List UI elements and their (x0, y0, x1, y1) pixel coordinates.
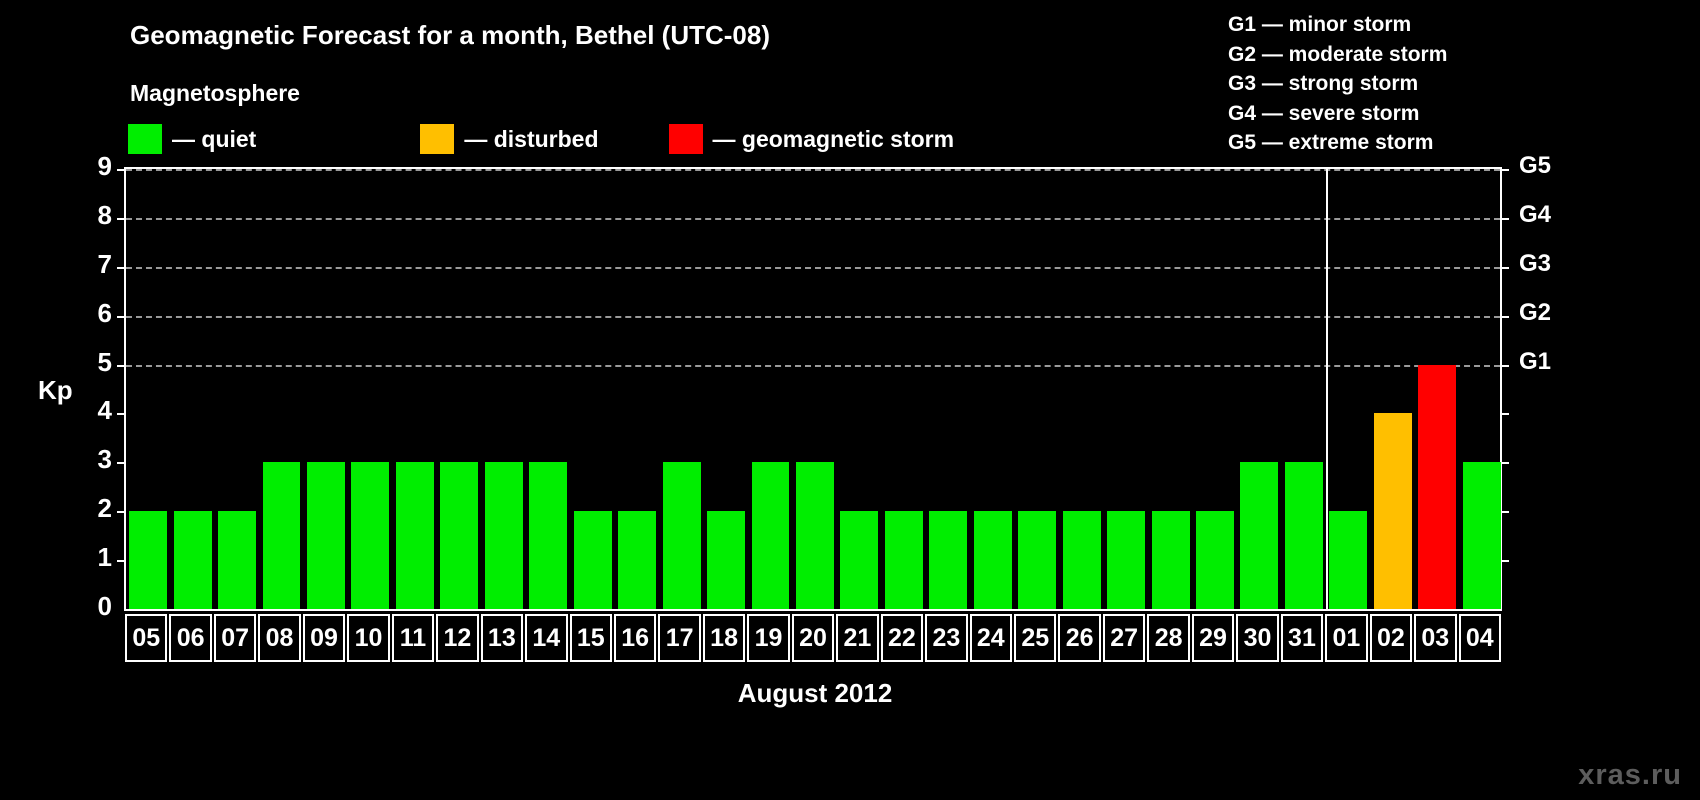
series-label: Magnetosphere (130, 80, 300, 107)
bar-day-09 (307, 462, 345, 609)
date-label-22: 22 (881, 614, 923, 662)
g-tick-label-g4: G4 (1519, 201, 1551, 229)
date-label-29: 29 (1192, 614, 1234, 662)
bar-day-31 (1285, 462, 1323, 609)
y-tick-label-4: 4 (72, 395, 112, 426)
y-tick-label-8: 8 (72, 200, 112, 231)
legend-entry-disturbed: — disturbed (420, 124, 598, 154)
legend-swatch-quiet (128, 124, 162, 154)
legend-label-quiet: — quiet (172, 126, 256, 153)
plot-area (124, 167, 1502, 611)
date-label-15: 15 (570, 614, 612, 662)
date-label-21: 21 (836, 614, 878, 662)
bar-day-02 (1374, 413, 1412, 609)
date-label-02: 02 (1370, 614, 1412, 662)
g-tick-label-g1: G1 (1519, 348, 1551, 376)
y-tick-label-7: 7 (72, 249, 112, 280)
y-tick-label-6: 6 (72, 298, 112, 329)
date-label-13: 13 (481, 614, 523, 662)
date-label-19: 19 (747, 614, 789, 662)
g-tick-label-g3: G3 (1519, 250, 1551, 278)
bar-day-07 (218, 511, 256, 609)
y-tick-label-1: 1 (72, 542, 112, 573)
page-title: Geomagnetic Forecast for a month, Bethel… (130, 20, 770, 51)
date-label-26: 26 (1058, 614, 1100, 662)
date-label-14: 14 (525, 614, 567, 662)
bar-day-05 (129, 511, 167, 609)
legend-entry-geomagnetic-storm: — geomagnetic storm (669, 124, 955, 154)
bar-day-04 (1463, 462, 1501, 609)
legend-label-geomagnetic-storm: — geomagnetic storm (713, 126, 955, 153)
bar-day-25 (1018, 511, 1056, 609)
date-label-18: 18 (703, 614, 745, 662)
g-tick-label-g2: G2 (1519, 299, 1551, 327)
bar-day-19 (752, 462, 790, 609)
legend-swatch-geomagnetic-storm (669, 124, 703, 154)
bar-day-12 (440, 462, 478, 609)
bar-day-17 (663, 462, 701, 609)
date-label-12: 12 (436, 614, 478, 662)
date-label-16: 16 (614, 614, 656, 662)
date-label-24: 24 (970, 614, 1012, 662)
y-tick-label-9: 9 (72, 151, 112, 182)
bars-layer (126, 169, 1500, 609)
bar-day-20 (796, 462, 834, 609)
date-label-25: 25 (1014, 614, 1056, 662)
date-label-11: 11 (392, 614, 434, 662)
g-legend-row-g2: G2 — moderate storm (1228, 40, 1447, 70)
date-label-05: 05 (125, 614, 167, 662)
bar-day-28 (1152, 511, 1190, 609)
x-axis-date-labels: 0506070809101112131415161718192021222324… (124, 614, 1502, 662)
forecast-divider-line (1326, 169, 1328, 609)
g-legend-row-g3: G3 — strong storm (1228, 69, 1447, 99)
date-label-10: 10 (347, 614, 389, 662)
g-legend-row-g1: G1 — minor storm (1228, 10, 1447, 40)
y-tick-label-5: 5 (72, 347, 112, 378)
date-label-20: 20 (792, 614, 834, 662)
color-legend: — quiet— disturbed— geomagnetic storm (128, 122, 954, 156)
date-label-17: 17 (658, 614, 700, 662)
bar-day-01 (1329, 511, 1367, 609)
bar-day-26 (1063, 511, 1101, 609)
bar-day-30 (1240, 462, 1278, 609)
bar-day-22 (885, 511, 923, 609)
date-label-03: 03 (1414, 614, 1456, 662)
date-label-27: 27 (1103, 614, 1145, 662)
geomagnetic-forecast-chart: Geomagnetic Forecast for a month, Bethel… (0, 0, 1700, 800)
g-legend-row-g5: G5 — extreme storm (1228, 128, 1447, 158)
date-label-04: 04 (1459, 614, 1501, 662)
bar-day-15 (574, 511, 612, 609)
date-label-28: 28 (1147, 614, 1189, 662)
x-axis-caption: August 2012 (0, 678, 1630, 709)
date-label-08: 08 (258, 614, 300, 662)
bar-day-18 (707, 511, 745, 609)
y-tick-label-0: 0 (72, 591, 112, 622)
y-axis-title: Kp (38, 375, 73, 406)
legend-swatch-disturbed (420, 124, 454, 154)
bar-day-08 (263, 462, 301, 609)
bar-day-13 (485, 462, 523, 609)
watermark: xras.ru (1578, 759, 1682, 792)
date-label-30: 30 (1236, 614, 1278, 662)
y-tick-label-3: 3 (72, 444, 112, 475)
date-label-07: 07 (214, 614, 256, 662)
g-legend-row-g4: G4 — severe storm (1228, 99, 1447, 129)
bar-day-24 (974, 511, 1012, 609)
bar-day-06 (174, 511, 212, 609)
g-scale-legend: G1 — minor stormG2 — moderate stormG3 — … (1228, 10, 1447, 158)
date-label-06: 06 (169, 614, 211, 662)
date-label-31: 31 (1281, 614, 1323, 662)
bar-day-11 (396, 462, 434, 609)
legend-label-disturbed: — disturbed (464, 126, 598, 153)
g-tick-label-g5: G5 (1519, 152, 1551, 180)
date-label-23: 23 (925, 614, 967, 662)
y-tick-label-2: 2 (72, 493, 112, 524)
bar-day-16 (618, 511, 656, 609)
bar-day-23 (929, 511, 967, 609)
bar-day-27 (1107, 511, 1145, 609)
bar-day-14 (529, 462, 567, 609)
legend-entry-quiet: — quiet (128, 124, 256, 154)
bar-day-10 (351, 462, 389, 609)
date-label-09: 09 (303, 614, 345, 662)
date-label-01: 01 (1325, 614, 1367, 662)
bar-day-21 (840, 511, 878, 609)
bar-day-29 (1196, 511, 1234, 609)
bar-day-03 (1418, 365, 1456, 609)
